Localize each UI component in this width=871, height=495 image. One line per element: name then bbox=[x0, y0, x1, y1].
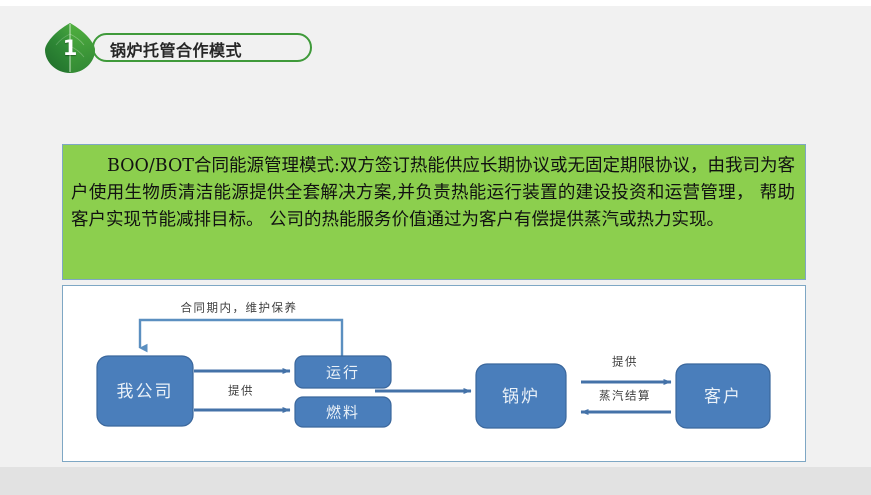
edge-steam-settlement: 蒸汽结算 bbox=[581, 389, 671, 413]
node-label-boiler: 锅炉 bbox=[502, 387, 540, 407]
process-diagram-panel: 合同期内，维护保养 提供 提供 蒸汽结算 bbox=[62, 285, 806, 462]
edge-maintenance: 合同期内，维护保养 bbox=[140, 301, 342, 357]
node-boiler: 锅炉 bbox=[476, 364, 566, 428]
edge-label-provide-left: 提供 bbox=[228, 384, 254, 398]
slide-top-margin bbox=[0, 0, 871, 6]
node-operation: 运行 bbox=[295, 356, 391, 388]
node-fuel: 燃料 bbox=[295, 397, 391, 427]
section-title: 锅炉托管合作模式 bbox=[110, 37, 242, 61]
slide-canvas: 1 锅炉托管合作模式 BOO/BOT合同能源管理模式:双方签订热能供应长期协议或… bbox=[0, 0, 871, 467]
node-label-customer: 客户 bbox=[704, 387, 742, 407]
description-text: BOO/BOT合同能源管理模式:双方签订热能供应长期协议或无固定期限协议，由我司… bbox=[71, 153, 795, 234]
leaf-icon: 1 bbox=[42, 22, 98, 74]
description-box: BOO/BOT合同能源管理模式:双方签订热能供应长期协议或无固定期限协议，由我司… bbox=[62, 144, 806, 280]
node-label-fuel: 燃料 bbox=[326, 404, 360, 422]
node-label-company: 我公司 bbox=[117, 382, 174, 402]
node-label-operation: 运行 bbox=[326, 364, 360, 382]
edge-label-steam-settlement: 蒸汽结算 bbox=[599, 389, 651, 403]
edge-label-provide-right: 提供 bbox=[612, 355, 638, 369]
node-customer: 客户 bbox=[676, 364, 770, 428]
edge-label-maintenance: 合同期内，维护保养 bbox=[181, 301, 298, 315]
node-company: 我公司 bbox=[97, 356, 193, 426]
edge-provide-left: 提供 bbox=[194, 384, 290, 411]
slide-header: 1 锅炉托管合作模式 bbox=[40, 20, 460, 76]
edge-provide-right: 提供 bbox=[581, 355, 671, 383]
